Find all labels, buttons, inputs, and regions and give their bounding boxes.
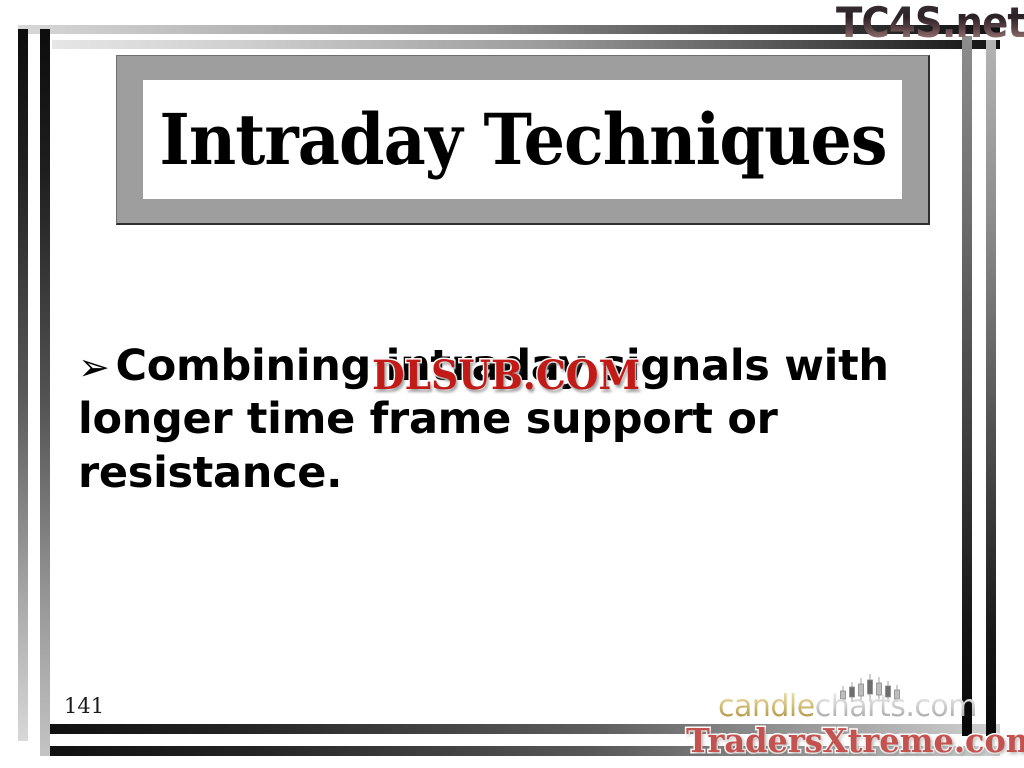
arrow-bullet-icon: ➢ — [78, 345, 116, 389]
candlecharts-logo-candle: candle — [718, 689, 815, 724]
page-title: Intraday Techniques — [159, 105, 886, 175]
tc4s-logo: TC4S.net — [836, 2, 1024, 44]
candlecharts-logo-charts: charts.com — [815, 689, 977, 724]
frame-bar-left-inner — [40, 29, 50, 756]
candlecharts-logo: candlecharts.com — [718, 692, 977, 722]
title-plaque-inner: Intraday Techniques — [143, 80, 902, 199]
page-number: 141 — [64, 694, 104, 718]
title-plaque: Intraday Techniques — [116, 55, 930, 225]
frame-bar-right-outer — [986, 40, 996, 736]
dlsub-watermark: DLSUB.COM — [372, 356, 640, 396]
frame-bar-right-inner — [962, 36, 972, 736]
tradersxtreme-watermark: TradersXtreme.com — [686, 724, 1024, 757]
frame-bar-left-outer — [18, 29, 28, 741]
slide-canvas: Intraday Techniques ➢Combining intraday … — [0, 0, 1024, 768]
